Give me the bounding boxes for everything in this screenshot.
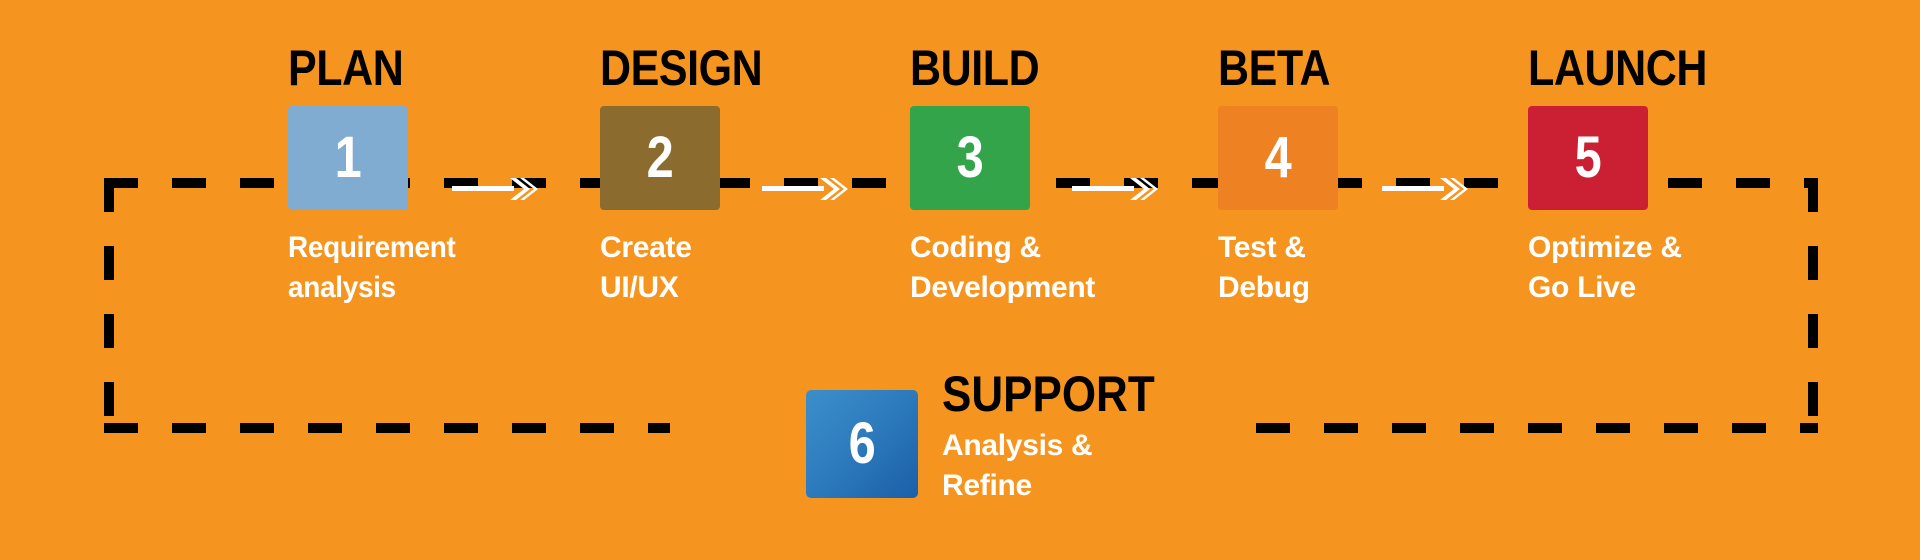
step-number-build: 3 xyxy=(956,129,983,187)
step-description-design: Create UI/UX xyxy=(600,228,850,308)
arrow-beta-to-launch-icon xyxy=(1382,172,1468,206)
step-number-plan: 1 xyxy=(334,129,361,187)
steps-row: PLAN 1 Requirement analysis DESIGN 2 Cre… xyxy=(0,0,1920,350)
step-description-launch: Optimize & Go Live xyxy=(1528,228,1778,308)
step-number-support: 6 xyxy=(848,415,875,473)
step-title-support: SUPPORT xyxy=(942,368,1155,420)
step-number-launch: 5 xyxy=(1574,129,1601,187)
step-box-build[interactable]: 3 xyxy=(910,106,1030,210)
step-box-design[interactable]: 2 xyxy=(600,106,720,210)
step-title-design: DESIGN xyxy=(600,40,815,96)
step-number-design: 2 xyxy=(646,129,673,187)
step-description-plan: Requirement analysis xyxy=(288,228,521,308)
step-description-support: Analysis & Refine xyxy=(942,426,1184,506)
step-number-beta: 4 xyxy=(1264,129,1291,187)
step-support[interactable]: 6 SUPPORT Analysis & Refine xyxy=(806,368,1184,506)
arrow-plan-to-design-icon xyxy=(452,172,538,206)
step-title-build: BUILD xyxy=(910,40,1125,96)
step-title-launch: LAUNCH xyxy=(1528,40,1743,96)
step-description-beta: Test & Debug xyxy=(1218,228,1468,308)
step-description-build: Coding & Development xyxy=(910,228,1160,308)
step-box-beta[interactable]: 4 xyxy=(1218,106,1338,210)
frame-bottom-right-edge xyxy=(1256,423,1818,433)
process-infographic: PLAN 1 Requirement analysis DESIGN 2 Cre… xyxy=(0,0,1920,560)
step-title-beta: BETA xyxy=(1218,40,1433,96)
step-title-plan: PLAN xyxy=(288,40,503,96)
arrow-build-to-beta-icon xyxy=(1072,172,1158,206)
step-box-plan[interactable]: 1 xyxy=(288,106,408,210)
arrow-design-to-build-icon xyxy=(762,172,848,206)
step-box-launch[interactable]: 5 xyxy=(1528,106,1648,210)
support-text-group: SUPPORT Analysis & Refine xyxy=(942,368,1184,506)
step-box-support[interactable]: 6 xyxy=(806,390,918,498)
frame-bottom-left-edge xyxy=(104,423,670,433)
step-launch[interactable]: LAUNCH 5 Optimize & Go Live xyxy=(1528,40,1778,308)
